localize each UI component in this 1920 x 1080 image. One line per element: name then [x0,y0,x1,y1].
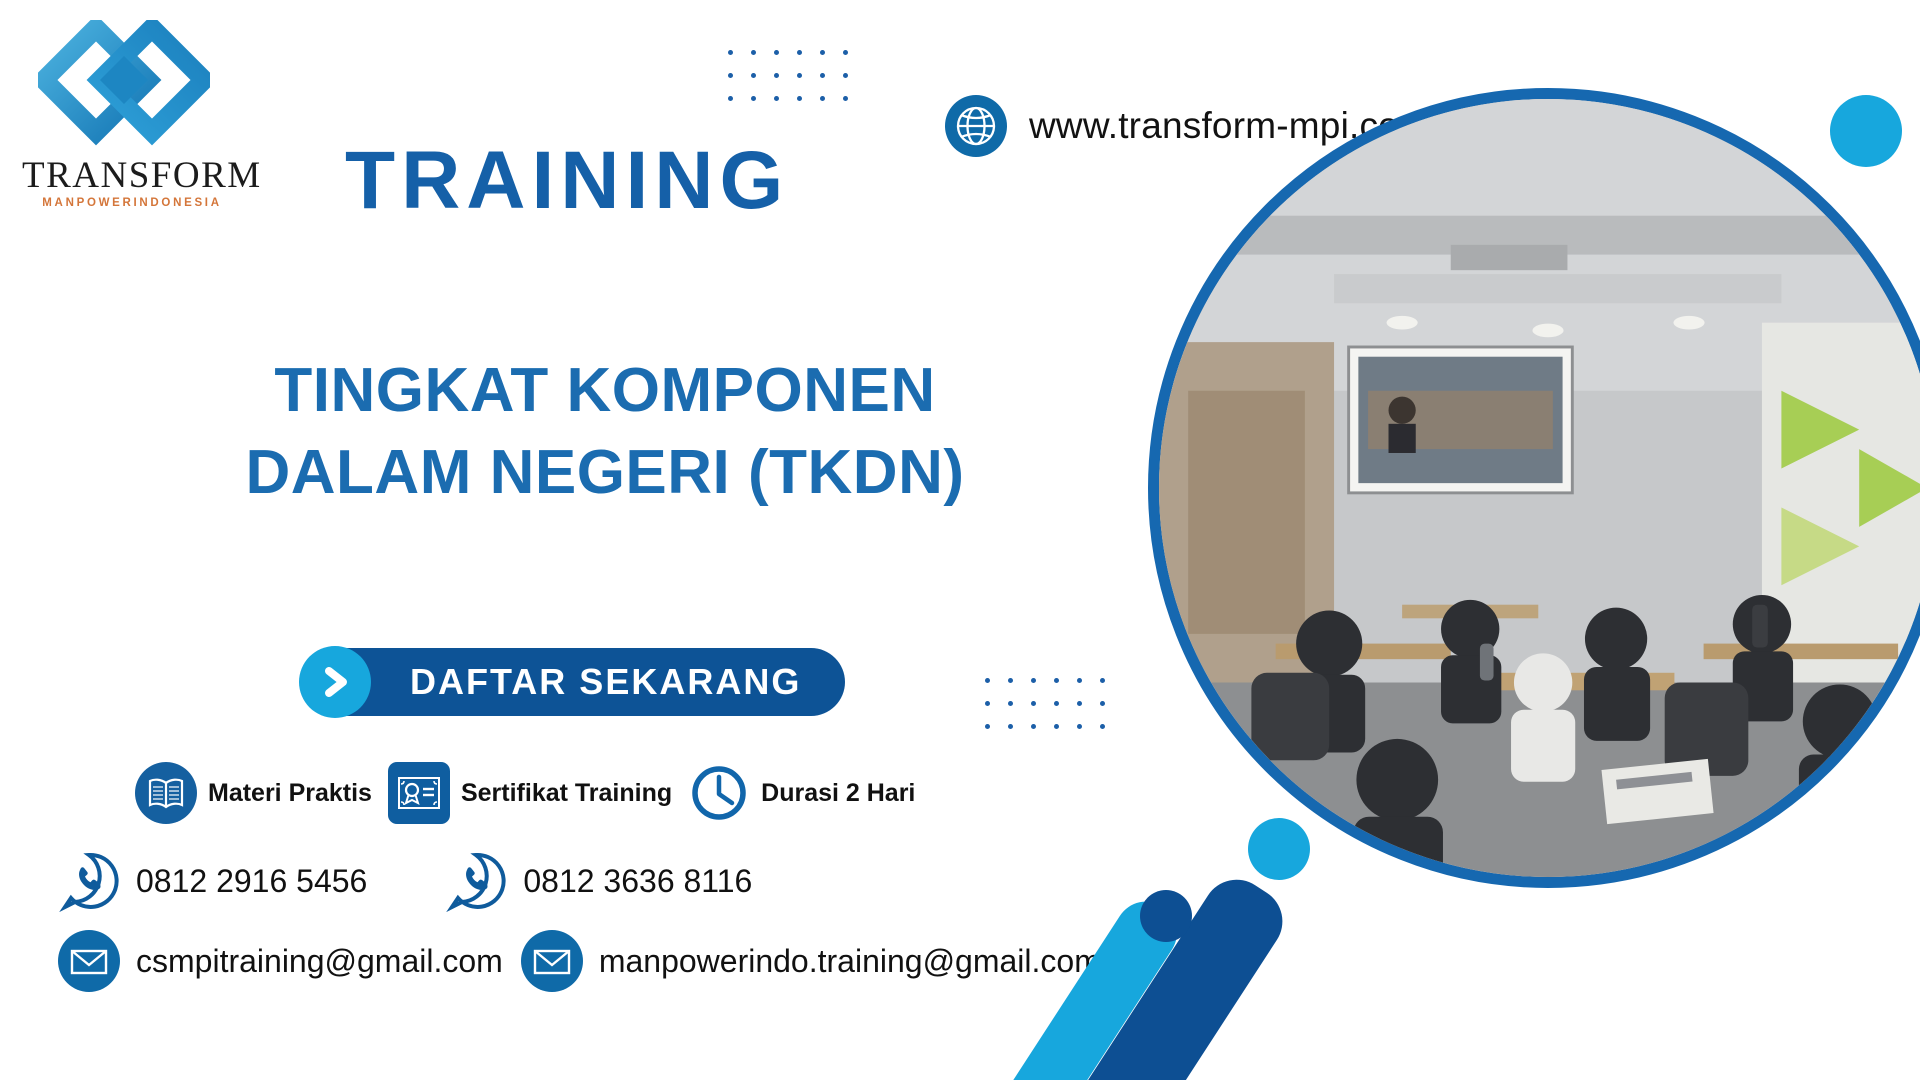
page-title-line-1: TINGKAT KOMPONEN [170,350,1040,432]
phone-number: 0812 3636 8116 [523,863,752,900]
interlocking-diamonds-icon [38,20,210,150]
page-title: TINGKAT KOMPONEN DALAM NEGERI (TKDN) [170,350,1040,514]
email-address: csmpitraining@gmail.com [136,943,503,980]
whatsapp-icon [58,850,120,912]
open-book-icon [135,762,197,824]
email-contact-2[interactable]: manpowerindo.training@gmail.com [521,930,1101,992]
dot-grid-decoration-top [728,50,848,101]
training-flyer: TRANSFORM MANPOWERINDONESIA www.transfor… [0,0,1920,1080]
email-contact-1[interactable]: csmpitraining@gmail.com [58,930,503,992]
envelope-icon [58,930,120,992]
feature-sertifikat-training: Sertifikat Training [388,762,672,824]
contact-info: 0812 2916 5456 0812 3636 8116 csmpitrain… [58,850,1101,992]
feature-label: Durasi 2 Hari [761,779,915,808]
phone-number: 0812 2916 5456 [136,863,367,900]
brand-logo: TRANSFORM MANPOWERINDONESIA [22,20,242,209]
logo-wordmark: TRANSFORM [22,157,242,194]
register-now-label: DAFTAR SEKARANG [410,661,801,703]
chevron-right-icon [299,646,371,718]
whatsapp-icon [445,850,507,912]
page-title-line-2: DALAM NEGERI (TKDN) [170,432,1040,514]
register-now-button[interactable]: DAFTAR SEKARANG [305,648,845,716]
email-address: manpowerindo.training@gmail.com [599,943,1101,980]
email-row: csmpitraining@gmail.com manpowerindo.tra… [58,930,1101,992]
classroom-illustration [1159,99,1920,877]
dot-grid-decoration-middle [985,678,1105,729]
phone-contact-1[interactable]: 0812 2916 5456 [58,850,367,912]
page-title-eyebrow: TRAINING [345,140,789,222]
phone-row: 0812 2916 5456 0812 3636 8116 [58,850,1101,912]
navy-circle-decoration [1140,890,1192,942]
feature-label: Sertifikat Training [461,779,672,808]
envelope-icon [521,930,583,992]
phone-contact-2[interactable]: 0812 3636 8116 [445,850,752,912]
feature-badges: Materi Praktis Sertifikat Training [135,762,915,824]
training-photo [1148,88,1920,888]
feature-materi-praktis: Materi Praktis [135,762,372,824]
clock-icon [688,762,750,824]
globe-icon [945,95,1007,157]
certificate-icon [388,762,450,824]
feature-label: Materi Praktis [208,779,372,808]
feature-durasi: Durasi 2 Hari [688,762,915,824]
logo-tagline: MANPOWERINDONESIA [22,197,242,209]
